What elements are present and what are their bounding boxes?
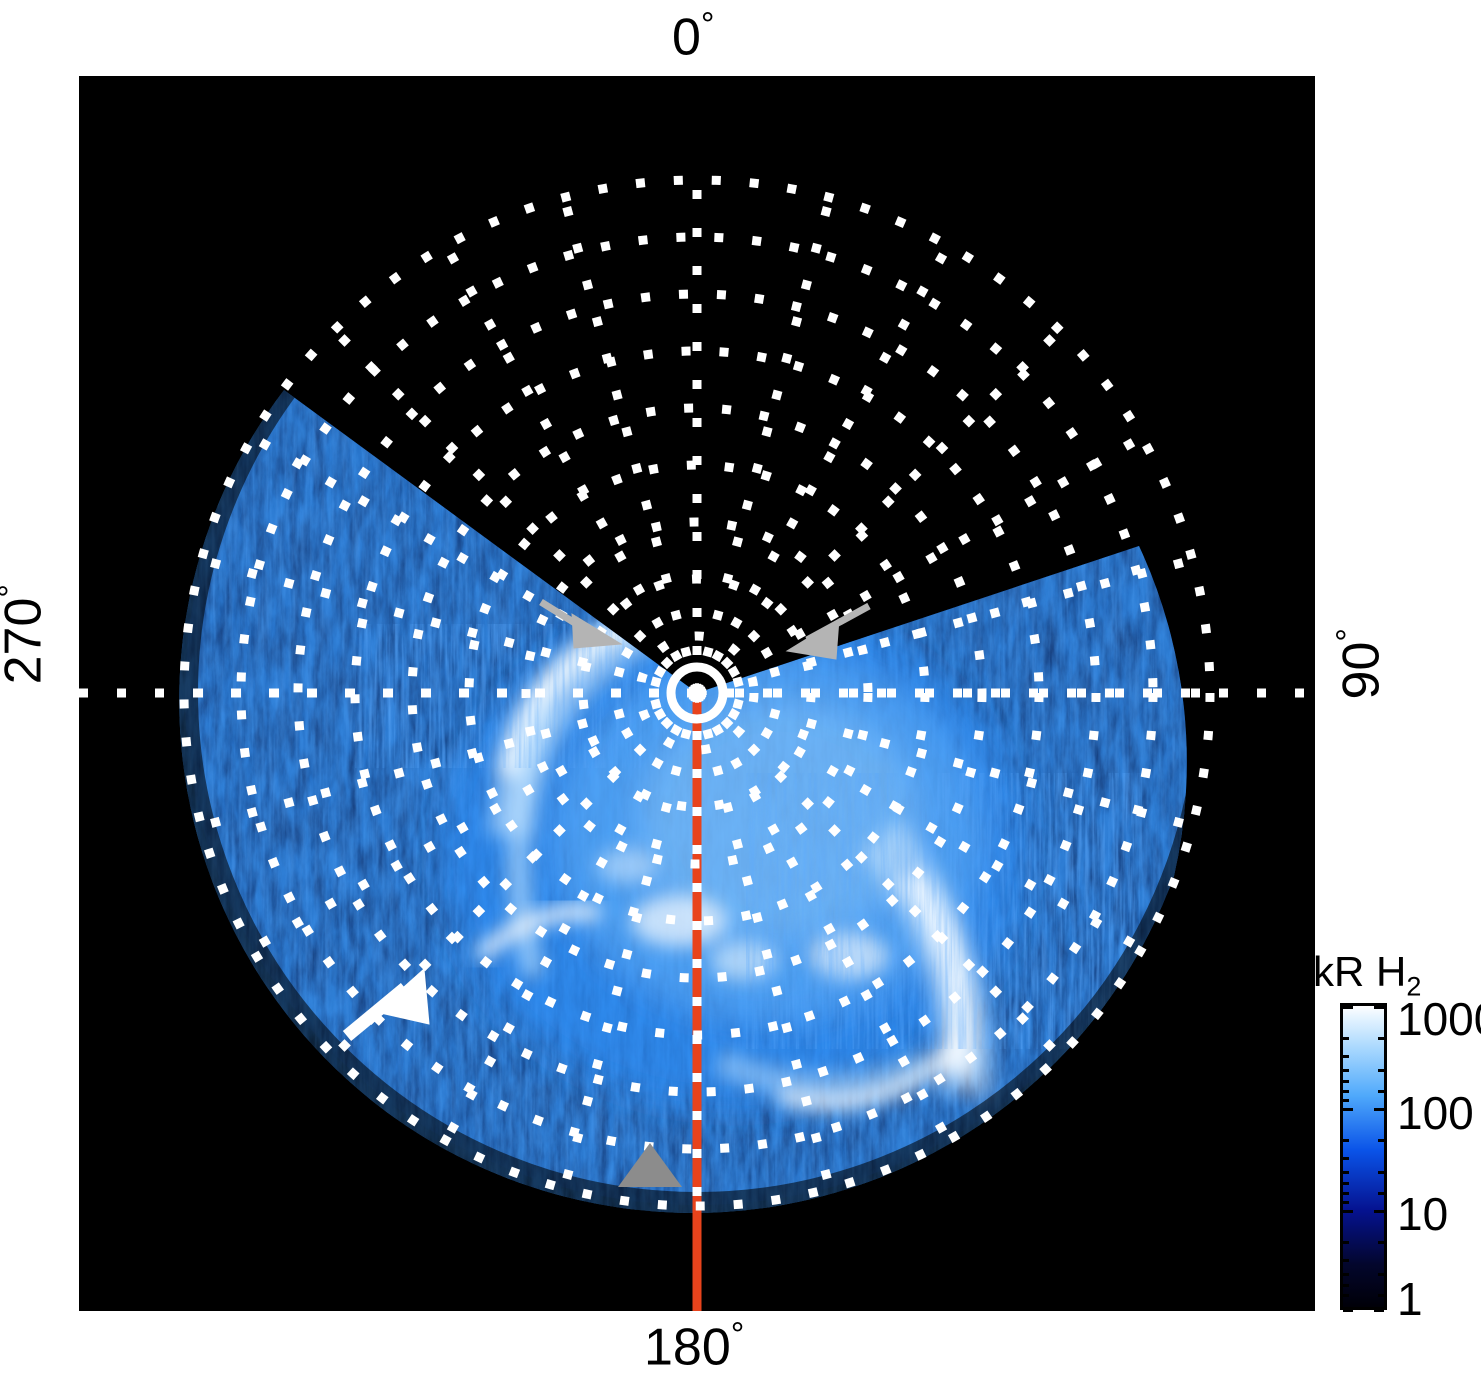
colorbar-minor-tick [1343,1099,1349,1102]
colorbar-gradient [1340,1003,1387,1310]
colorbar-minor-tick [1343,1080,1349,1083]
colorbar-minor-tick [1343,1273,1349,1276]
colorbar-minor-tick [1378,1090,1384,1093]
colorbar-tick-10-right [1374,1210,1384,1213]
colorbar-minor-tick [1343,1259,1349,1262]
aurora-heatmap [79,76,1315,1311]
colorbar-tick-100-right [1374,1108,1384,1111]
colorbar-minor-tick [1343,1182,1349,1185]
colorbar-label-100: 100 [1397,1090,1474,1136]
colorbar-minor-tick [1343,1090,1349,1093]
polar-plot-stage [79,76,1315,1311]
angle-label-90: 90° [1332,628,1387,699]
colorbar-tick-1-right [1374,1309,1384,1312]
figure-canvas: 0° 180° 270° 90° kR H2 [0,0,1481,1386]
colorbar-minor-tick [1378,1241,1384,1244]
colorbar: kR H2 [1313,948,1481,1328]
colorbar-minor-tick [1343,1201,1349,1204]
colorbar-tick-10-left [1343,1210,1353,1213]
angle-label-180: 180° [644,1318,744,1373]
colorbar-label-1: 1 [1397,1276,1423,1322]
colorbar-minor-tick [1378,1192,1384,1195]
colorbar-minor-tick [1343,1069,1349,1072]
colorbar-minor-tick [1378,1273,1384,1276]
angle-label-0: 0° [672,8,715,63]
colorbar-minor-tick [1378,1069,1384,1072]
colorbar-minor-tick [1343,1294,1349,1297]
colorbar-minor-tick [1343,1284,1349,1287]
colorbar-tick-1000-left [1343,1006,1353,1009]
colorbar-minor-tick [1378,1139,1384,1142]
colorbar-minor-tick [1378,1171,1384,1174]
angle-label-270: 270° [0,584,49,684]
colorbar-minor-tick [1378,1037,1384,1040]
colorbar-label-1000: 1000 [1397,996,1481,1042]
colorbar-tick-1-left [1343,1309,1353,1312]
colorbar-minor-tick [1343,1139,1349,1142]
colorbar-label-10: 10 [1397,1191,1448,1237]
colorbar-minor-tick [1343,1157,1349,1160]
colorbar-minor-tick [1343,1192,1349,1195]
colorbar-minor-tick [1343,1037,1349,1040]
colorbar-minor-tick [1343,1241,1349,1244]
colorbar-minor-tick [1378,1294,1384,1297]
colorbar-minor-tick [1343,1171,1349,1174]
colorbar-tick-1000-right [1374,1006,1384,1009]
colorbar-tick-100-left [1343,1108,1353,1111]
colorbar-minor-tick [1343,1055,1349,1058]
polar-plot-panel [79,76,1315,1311]
